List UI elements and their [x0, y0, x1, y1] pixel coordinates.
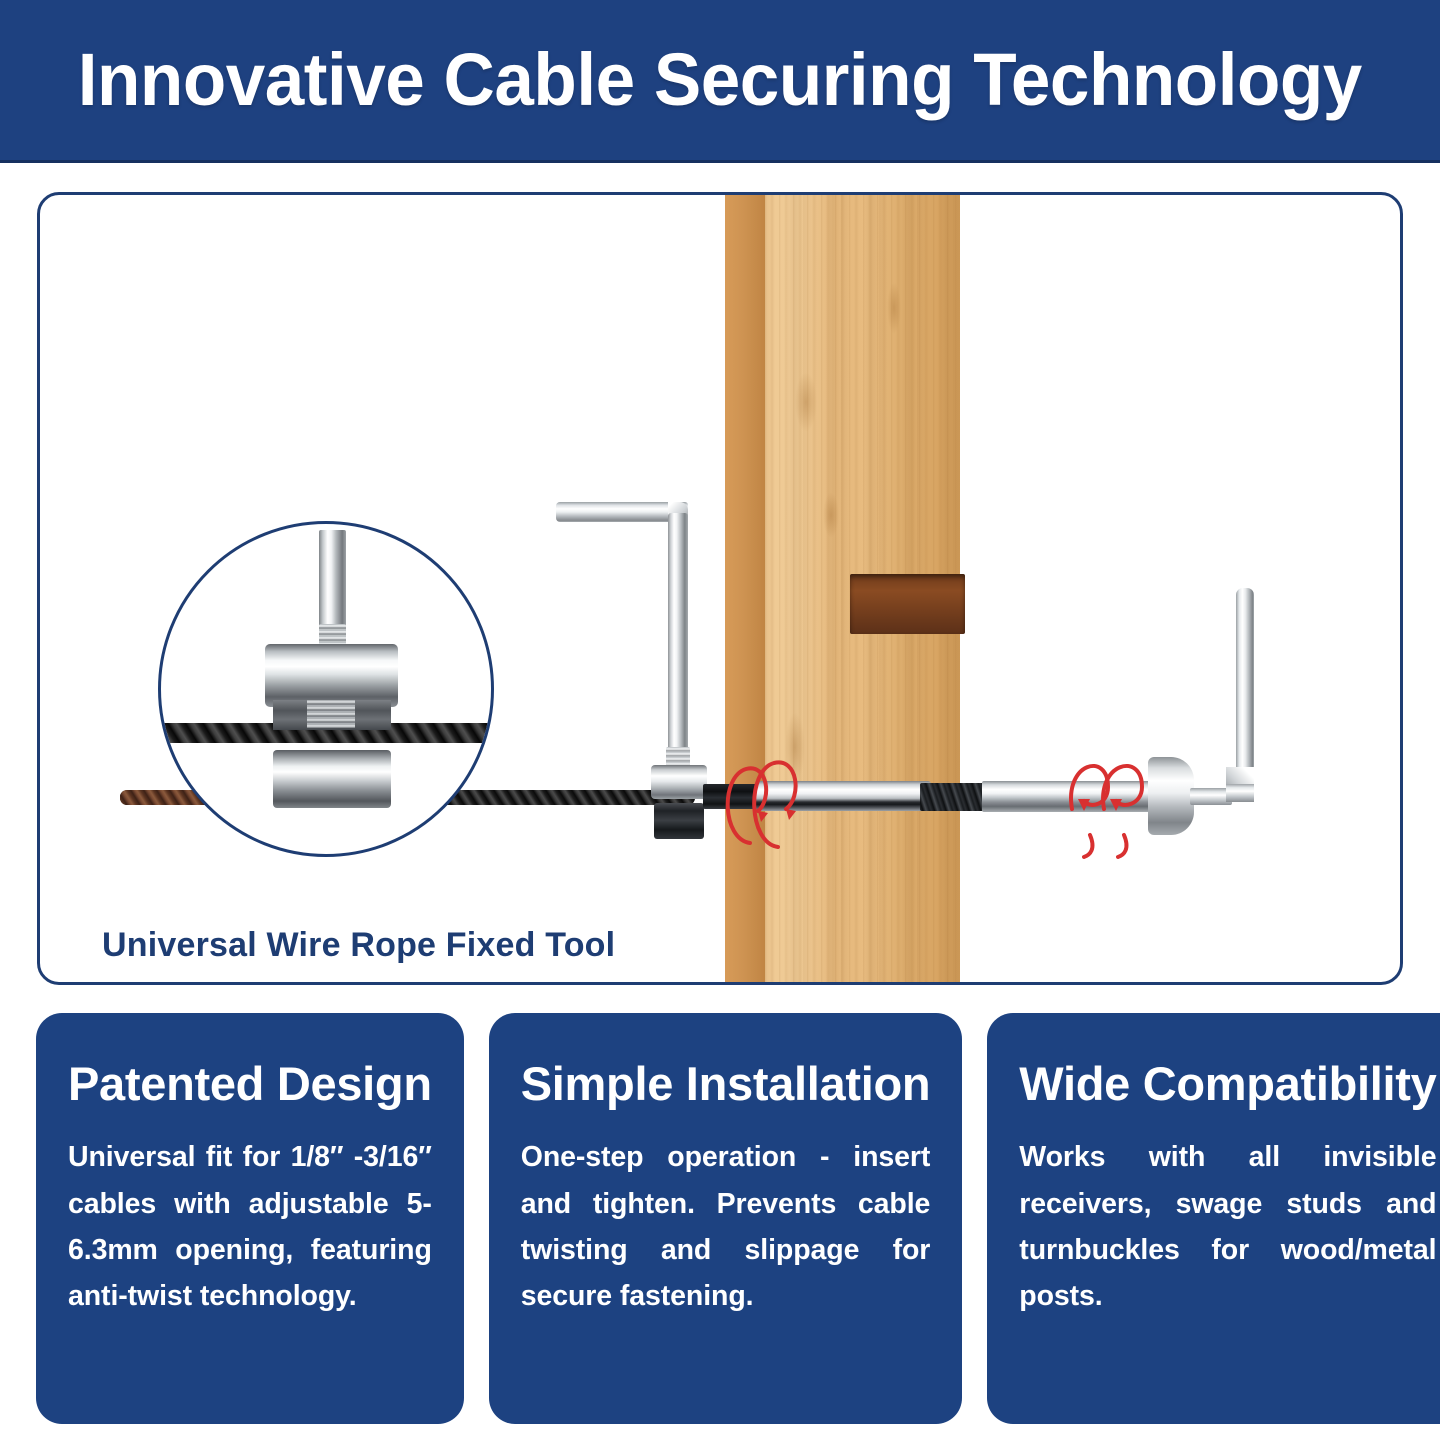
mortise-slot [850, 574, 965, 634]
inset-clamp-body [265, 644, 398, 707]
wood-grain-knot [887, 282, 901, 334]
magnifier-inset-circle [158, 521, 494, 857]
page-title: Innovative Cable Securing Technology [78, 43, 1362, 117]
inset-jaw-threads [307, 700, 355, 728]
inset-clamp-lower-block [273, 750, 391, 808]
feature-card-title: Wide Compatibility [1019, 1059, 1436, 1108]
feature-card-title: Patented Design [68, 1059, 432, 1108]
hex-key-short-arm [1226, 784, 1254, 802]
feature-card-wide-compatibility: Wide Compatibility Works with all invisi… [987, 1013, 1440, 1424]
wood-grain-knot [795, 372, 817, 432]
feature-card-body: Works with all invisible receivers, swag… [1019, 1134, 1436, 1319]
wood-post-image [725, 192, 960, 985]
feature-card-body: Universal fit for 1/8″ -3/16″ cables wit… [68, 1134, 432, 1319]
shaft-threaded-section [920, 783, 985, 811]
rotation-arrow-icon-right [1046, 743, 1176, 861]
cable-clamp-upper-jaw [651, 765, 707, 799]
infographic-page: Innovative Cable Securing Technology [0, 0, 1440, 1440]
wood-grain-knot [823, 492, 839, 538]
feature-cards-row: Patented Design Universal fit for 1/8″ -… [36, 1013, 1404, 1424]
handle-vertical-arm [668, 513, 688, 778]
rotation-arrow-icon-left [716, 747, 846, 857]
inset-caption: Universal Wire Rope Fixed Tool [102, 926, 615, 965]
product-illustration-panel: Universal Wire Rope Fixed Tool [37, 192, 1403, 985]
feature-card-title: Simple Installation [521, 1059, 931, 1108]
feature-card-simple-installation: Simple Installation One-step operation -… [489, 1013, 963, 1424]
cable-clamp-lower-jaw [654, 803, 704, 839]
feature-card-patented-design: Patented Design Universal fit for 1/8″ -… [36, 1013, 464, 1424]
header-banner: Innovative Cable Securing Technology [0, 0, 1440, 163]
hex-key-long-arm [1236, 588, 1254, 784]
feature-card-body: One-step operation - insert and tighten.… [521, 1134, 931, 1319]
wood-post-left-edge [725, 192, 765, 985]
